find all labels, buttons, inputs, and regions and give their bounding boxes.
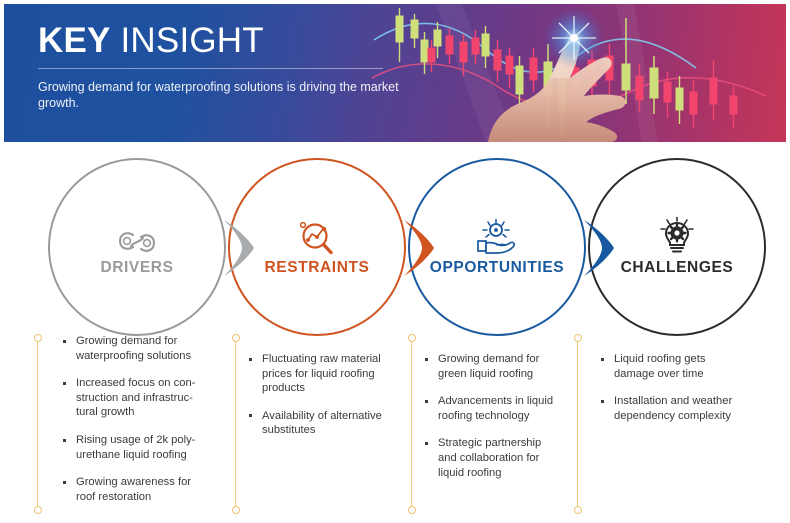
bullet-column-drivers: Growing demand for waterproofing solutio… xyxy=(62,334,227,517)
list-item: Liquid roofing gets damage over time xyxy=(600,352,770,381)
list-item: Strategic partnership and collaboration … xyxy=(424,436,584,480)
list-item: Increased focus on con- struction and in… xyxy=(62,376,227,420)
bulb-gear-icon xyxy=(657,217,697,255)
page-title: KEY INSIGHT xyxy=(38,20,408,62)
page-subtitle: Growing demand for waterproofing solutio… xyxy=(38,79,408,111)
separator-ring-bottom xyxy=(574,506,582,514)
separator-ring-bottom xyxy=(34,506,42,514)
column-separator-2 xyxy=(231,334,240,514)
bullet-list-opportunities: Growing demand for green liquid roofing … xyxy=(424,352,584,480)
magnifier-chart-icon xyxy=(297,217,337,255)
list-item: Advancements in liquid roofing technolog… xyxy=(424,394,584,423)
separator-ring-top xyxy=(232,334,240,342)
infographic-page: KEY INSIGHT Growing demand for waterproo… xyxy=(0,0,790,523)
bullet-list-restraints: Fluctuating raw material prices for liqu… xyxy=(248,352,416,438)
flow-diagram: DRIVERS xyxy=(0,142,790,342)
separator-ring-top xyxy=(34,334,42,342)
separator-ring-bottom xyxy=(408,506,416,514)
list-item: Availability of alternative substitutes xyxy=(248,409,416,438)
separator-ring-bottom xyxy=(232,506,240,514)
header-banner: KEY INSIGHT Growing demand for waterproo… xyxy=(4,4,786,142)
list-item: Rising usage of 2k poly- urethane liquid… xyxy=(62,433,227,462)
list-item: Growing demand for waterproofing solutio… xyxy=(62,334,227,363)
banner-stock-chart-art xyxy=(366,4,786,142)
bullet-list-drivers: Growing demand for waterproofing solutio… xyxy=(62,334,227,504)
bullet-column-restraints: Fluctuating raw material prices for liqu… xyxy=(248,334,416,451)
gauge-link-icon xyxy=(117,217,157,255)
page-title-rest: INSIGHT xyxy=(111,21,264,60)
flow-node-drivers[interactable]: DRIVERS xyxy=(48,158,226,336)
flow-arrow-2 xyxy=(402,220,436,276)
list-item: Growing demand for green liquid roofing xyxy=(424,352,584,381)
list-item: Growing awareness for roof restoration xyxy=(62,475,227,504)
flow-node-label-restraints: RESTRAINTS xyxy=(264,259,369,277)
bullet-column-challenges: Liquid roofing gets damage over time Ins… xyxy=(600,334,770,436)
column-separator-1 xyxy=(33,334,42,514)
flow-arrow-1 xyxy=(222,220,256,276)
flow-arrow-3 xyxy=(582,220,616,276)
flow-node-label-opportunities: OPPORTUNITIES xyxy=(430,259,564,277)
bullet-columns: Growing demand for waterproofing solutio… xyxy=(0,334,790,523)
flow-node-label-drivers: DRIVERS xyxy=(100,259,173,277)
candlestick-artwork xyxy=(366,4,786,142)
page-title-bold: KEY xyxy=(38,21,111,60)
list-item: Installation and weather dependency comp… xyxy=(600,394,770,423)
bullet-list-challenges: Liquid roofing gets damage over time Ins… xyxy=(600,352,770,423)
bullet-column-opportunities: Growing demand for green liquid roofing … xyxy=(424,334,584,493)
list-item: Fluctuating raw material prices for liqu… xyxy=(248,352,416,396)
title-divider xyxy=(38,68,383,69)
hand-sun-icon xyxy=(474,217,520,255)
header-text-block: KEY INSIGHT Growing demand for waterproo… xyxy=(38,20,408,111)
flow-node-label-challenges: CHALLENGES xyxy=(621,259,734,277)
